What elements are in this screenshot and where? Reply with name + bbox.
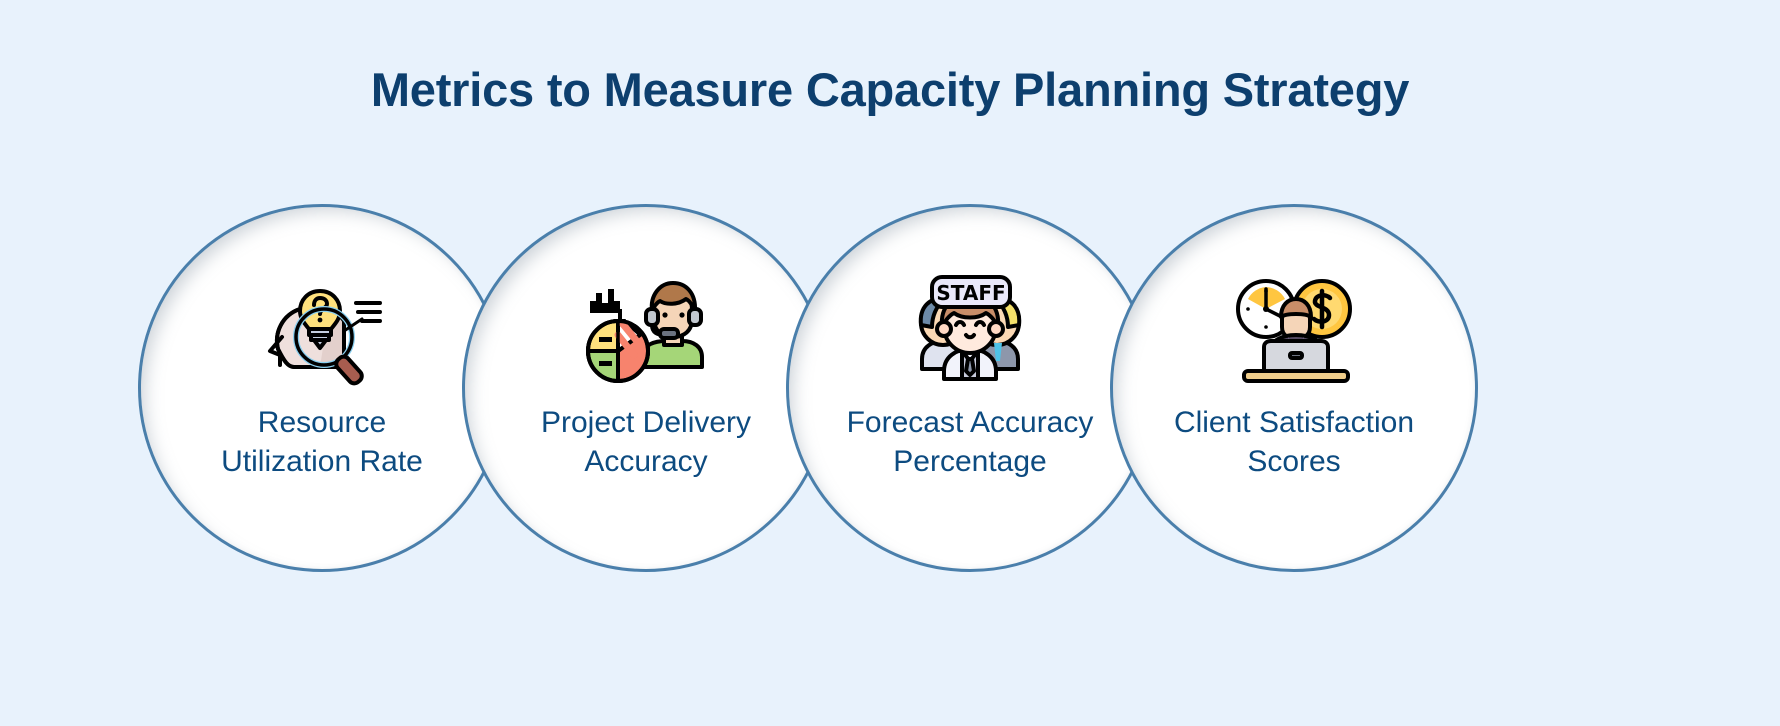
metric-label-client-satisfaction-scores: Client Satisfaction Scores <box>1144 403 1444 481</box>
metric-circle-project-delivery-accuracy[interactable]: Project Delivery Accuracy <box>462 204 830 572</box>
page-title: Metrics to Measure Capacity Planning Str… <box>0 62 1780 117</box>
metric-label-project-delivery-accuracy: Project Delivery Accuracy <box>496 403 796 481</box>
headset-agent-pie-chart-icon <box>581 275 711 387</box>
metric-circle-resource-utilization-rate[interactable]: Resource Utilization Rate <box>138 204 506 572</box>
staff-badge-text: STAFF <box>936 281 1005 305</box>
clock-laptop-coin-icon <box>1229 275 1359 387</box>
metric-circle-forecast-accuracy-percentage[interactable]: STAFF Forecast Accuracy Percentage <box>786 204 1154 572</box>
metric-label-forecast-accuracy-percentage: Forecast Accuracy Percentage <box>820 403 1120 481</box>
metrics-circle-row: Resource Utilization Rate <box>0 198 1780 578</box>
metric-circle-client-satisfaction-scores[interactable]: Client Satisfaction Scores <box>1110 204 1478 572</box>
staff-team-icon: STAFF <box>905 275 1035 387</box>
head-lightbulb-magnifier-icon <box>257 275 387 387</box>
metric-label-resource-utilization-rate: Resource Utilization Rate <box>172 403 472 481</box>
